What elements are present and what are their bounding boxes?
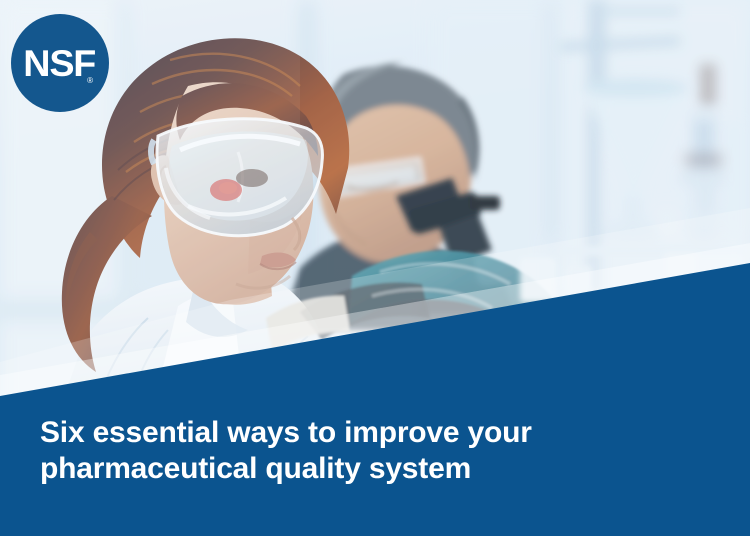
registered-trademark-icon: ®: [87, 77, 93, 85]
nsf-logo-text: NSF: [23, 45, 95, 82]
nsf-logo[interactable]: NSF ®: [11, 14, 109, 112]
banner-title-line-1: Six essential ways to improve your: [40, 415, 700, 451]
laboratory-scene-illustration: [0, 0, 750, 420]
nsf-promotional-banner: NSF ® Six essential ways to improve your…: [0, 0, 750, 536]
banner-title-line-2: pharmaceutical quality system: [40, 451, 700, 487]
banner-title: Six essential ways to improve your pharm…: [40, 415, 700, 487]
laboratory-photo: [0, 0, 750, 420]
